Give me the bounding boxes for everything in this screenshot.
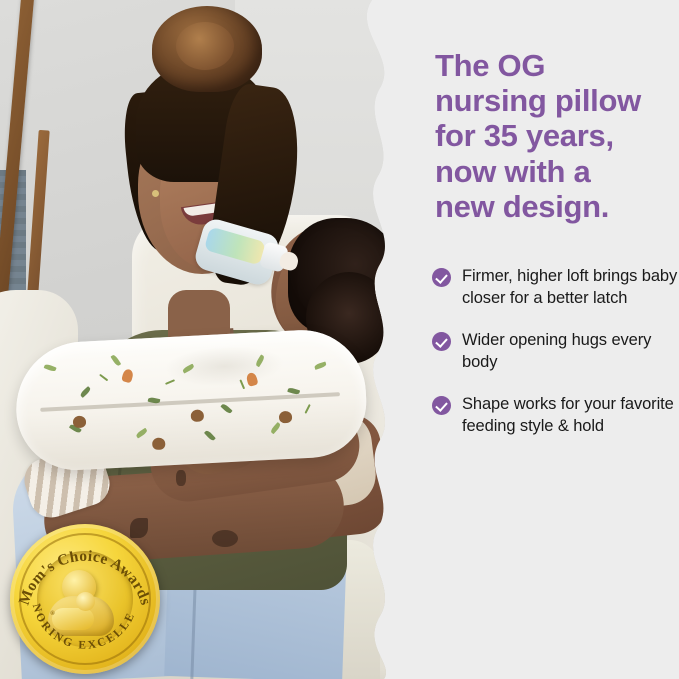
headline-line-1: The OG bbox=[435, 48, 679, 83]
feature-text: Wider opening hugs every body bbox=[462, 330, 679, 373]
print-leaf bbox=[270, 422, 282, 434]
check-circle-icon bbox=[432, 268, 451, 287]
print-leaf bbox=[110, 354, 121, 367]
headline-line-4: now with a bbox=[435, 154, 679, 189]
badge-curved-text: Mom's Choice Awards HONORING EXCELLENCE bbox=[10, 524, 160, 674]
print-bear bbox=[152, 437, 166, 450]
print-twig bbox=[99, 374, 108, 382]
print-bear bbox=[279, 411, 293, 424]
badge-arc-top-text: Mom's Choice Awards bbox=[16, 548, 154, 608]
tattoo bbox=[212, 530, 238, 547]
print-leaf bbox=[44, 363, 57, 372]
headline-line-2: nursing pillow bbox=[435, 83, 679, 118]
print-twig bbox=[304, 404, 310, 414]
nursing-pillow bbox=[13, 327, 369, 473]
mother-hair-bun-highlight bbox=[176, 22, 234, 70]
print-fox bbox=[121, 368, 134, 383]
list-item: Wider opening hugs every body bbox=[432, 330, 679, 373]
tattoo bbox=[176, 470, 186, 486]
print-leaf bbox=[220, 403, 232, 415]
feature-text: Shape works for your favorite feeding st… bbox=[462, 394, 679, 437]
check-circle-icon bbox=[432, 396, 451, 415]
print-leaf bbox=[314, 361, 327, 369]
pillow-shadow-fold bbox=[163, 343, 285, 389]
page-title: The OG nursing pillow for 35 years, now … bbox=[435, 48, 679, 224]
print-bear bbox=[191, 409, 205, 422]
feature-text: Firmer, higher loft brings baby closer f… bbox=[462, 266, 679, 309]
list-item: Shape works for your favorite feeding st… bbox=[432, 394, 679, 437]
moms-choice-awards-badge: ® Mom's Choice Awards HONORING EXCELLENC… bbox=[10, 524, 160, 674]
headline-line-5: new design. bbox=[435, 189, 679, 224]
copy-panel: The OG nursing pillow for 35 years, now … bbox=[420, 0, 679, 679]
earring bbox=[152, 190, 159, 197]
headline-line-3: for 35 years, bbox=[435, 118, 679, 153]
print-leaf bbox=[79, 386, 91, 398]
print-bear bbox=[73, 416, 87, 429]
check-circle-icon bbox=[432, 332, 451, 351]
list-item: Firmer, higher loft brings baby closer f… bbox=[432, 266, 679, 309]
product-feature-card: ® Mom's Choice Awards HONORING EXCELLENC… bbox=[0, 0, 679, 679]
print-leaf bbox=[204, 429, 216, 441]
print-leaf bbox=[135, 428, 148, 439]
feature-list: Firmer, higher loft brings baby closer f… bbox=[432, 266, 679, 459]
